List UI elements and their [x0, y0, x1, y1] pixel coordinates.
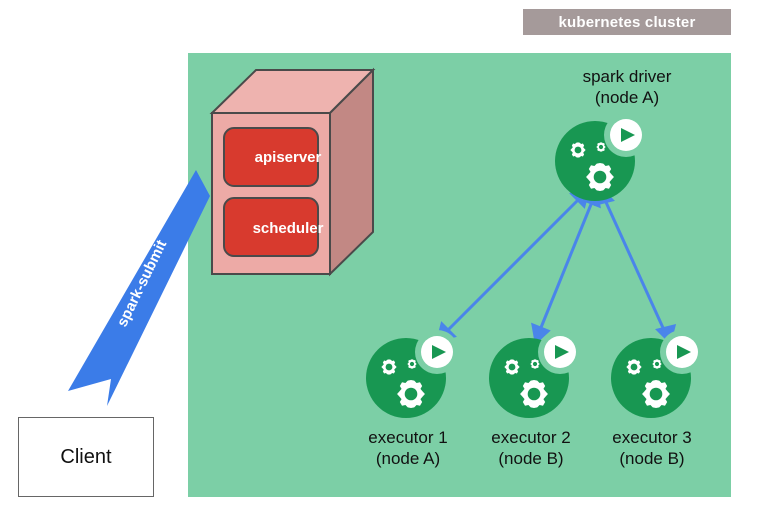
apiserver-chip-label: apiserver	[228, 149, 348, 166]
client-box[interactable]: Client	[18, 417, 154, 497]
client-label: Client	[60, 446, 111, 469]
control-plane-cube	[212, 70, 373, 274]
executor-3-name: executor 3	[572, 427, 732, 448]
spark-driver-node: (node A)	[547, 87, 707, 108]
scheduler-chip-label: scheduler	[228, 220, 348, 237]
kubernetes-cluster-label: kubernetes cluster	[523, 9, 731, 35]
executor-3-node: (node B)	[572, 448, 732, 469]
spark-driver-caption: spark driver (node A)	[547, 66, 707, 108]
spark-driver-name: spark driver	[547, 66, 707, 87]
executor-3-caption: executor 3 (node B)	[572, 427, 732, 469]
